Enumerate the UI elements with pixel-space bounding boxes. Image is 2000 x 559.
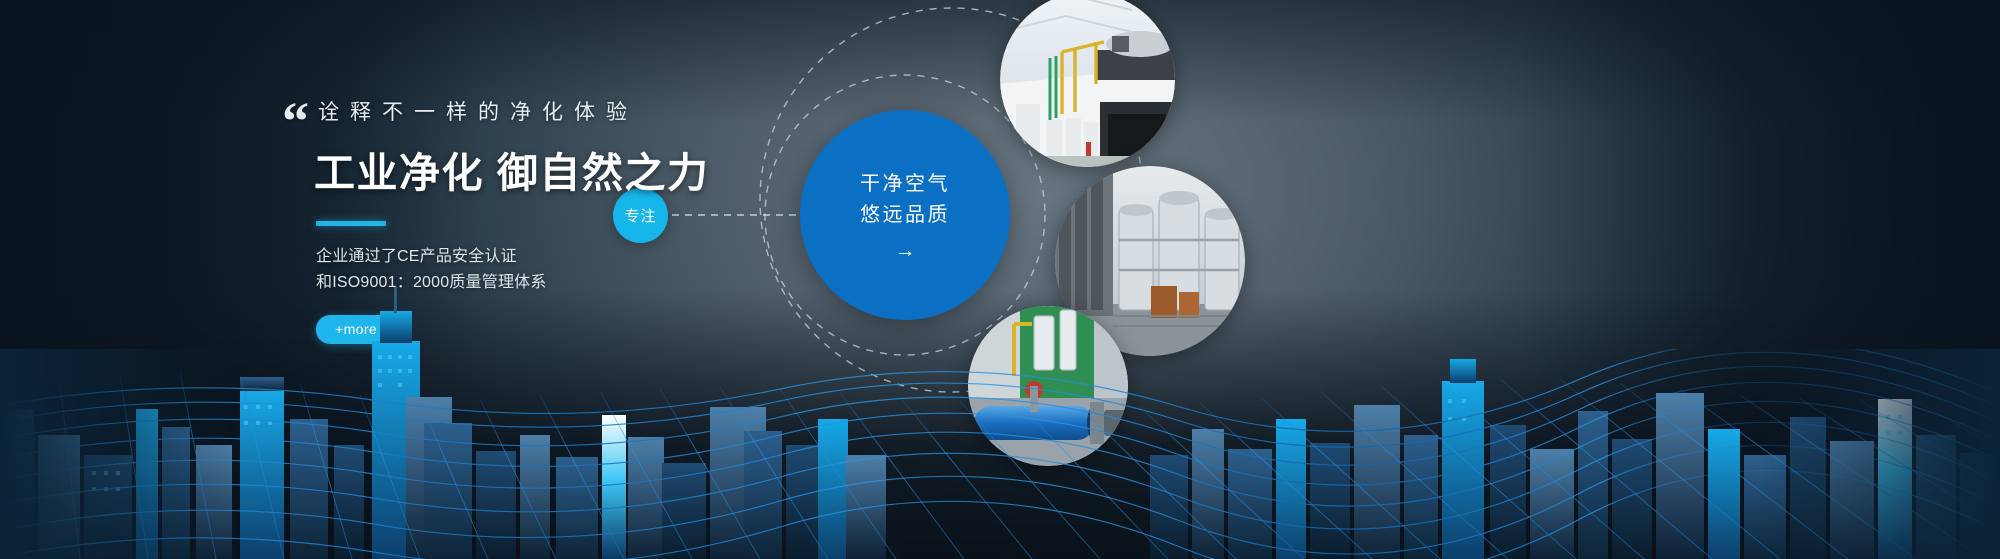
- hero-headline: 工业净化 御自然之力: [310, 139, 870, 199]
- hero-subtitle: 诠释不一样的净化体验: [310, 96, 870, 126]
- accent-divider: [316, 221, 386, 226]
- circle-line-2: 悠远品质: [860, 200, 950, 231]
- arrow-right-icon: →: [895, 240, 916, 261]
- quote-mark-icon: “: [282, 94, 307, 148]
- hero-banner: 专注 干净空气 悠远品质 → “ 诠释不一样的净化体验 工业净化 御自然之力 企…: [0, 0, 2000, 559]
- wireframe-terrain-mesh: [0, 349, 2000, 559]
- photo-circle-industrial-plant-exterior[interactable]: [1000, 0, 1175, 167]
- circle-line-1: 干净空气: [860, 169, 950, 200]
- industrial-plant-exterior-icon: [1000, 0, 1175, 167]
